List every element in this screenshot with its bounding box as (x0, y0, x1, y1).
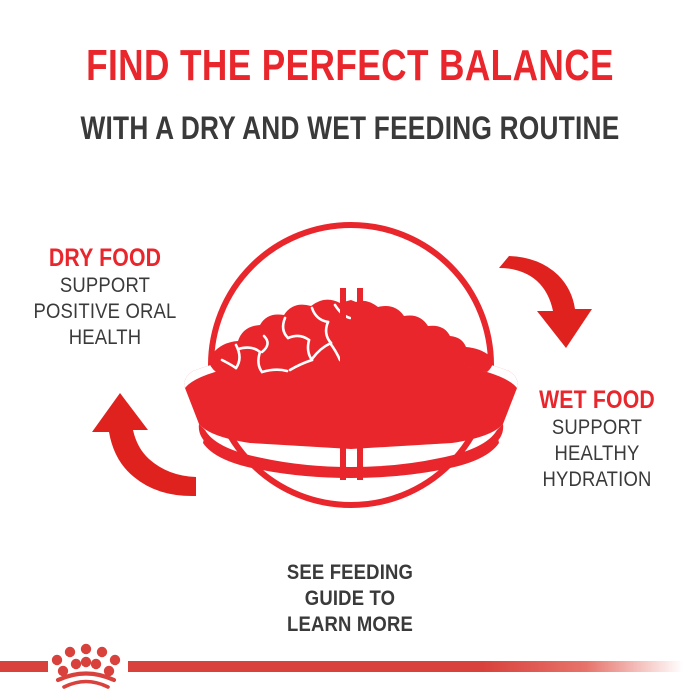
vertical-split-divider-icon (340, 288, 363, 480)
bowl-right-wet-half (351, 300, 518, 449)
kibble-texture (222, 305, 350, 372)
page-subtitle: WITH A DRY AND WET FEEDING ROUTINE (63, 110, 637, 146)
callout-wet-food-body-line-1: SUPPORT HEALTHY (509, 415, 685, 467)
feeding-guide-note: SEE FEEDING GUIDE TO LEARN MORE (262, 560, 438, 638)
arrow-to-wet-food-icon (499, 256, 592, 348)
dog-bowl-icon (184, 288, 517, 480)
royal-canin-crown-icon (50, 642, 122, 694)
footer-rule-right (128, 661, 700, 672)
page-title: FIND THE PERFECT BALANCE (70, 42, 630, 90)
feeding-guide-note-line-2: GUIDE TO (262, 586, 438, 612)
callout-wet-food-title: WET FOOD (512, 385, 682, 415)
callout-wet-food-body: SUPPORT HEALTHY HYDRATION (509, 415, 685, 493)
callout-wet-food-body-line-2: HYDRATION (509, 467, 685, 493)
bowl-base-band (199, 424, 503, 474)
arrow-to-dry-food-icon (92, 393, 196, 496)
callout-dry-food-body-line-3: HEALTH (17, 325, 193, 351)
callout-dry-food: DRY FOOD SUPPORT POSITIVE ORAL HEALTH (5, 243, 205, 351)
callout-dry-food-body: SUPPORT POSITIVE ORAL HEALTH (17, 273, 193, 351)
feeding-guide-note-line-3: LEARN MORE (262, 612, 438, 638)
bowl-left-dry-half (184, 300, 351, 449)
footer (0, 640, 700, 700)
feeding-guide-note-line-1: SEE FEEDING (262, 560, 438, 586)
footer-rule-left (0, 661, 48, 672)
callout-dry-food-body-line-2: POSITIVE ORAL (17, 299, 193, 325)
callout-dry-food-body-line-1: SUPPORT (17, 273, 193, 299)
circle-outline-icon (211, 225, 491, 505)
callout-dry-food-title: DRY FOOD (20, 243, 190, 273)
bowl-base-foot (203, 433, 499, 478)
poster-canvas: FIND THE PERFECT BALANCE WITH A DRY AND … (0, 0, 700, 700)
callout-wet-food: WET FOOD SUPPORT HEALTHY HYDRATION (497, 385, 697, 493)
